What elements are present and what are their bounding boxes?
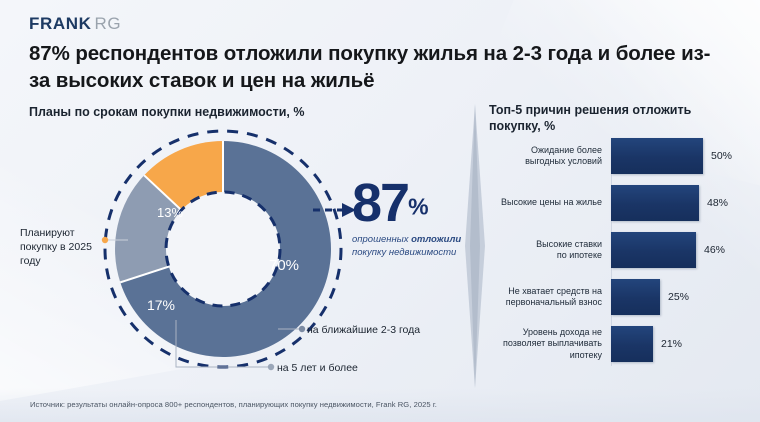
bar-label-4-line2: позволяет выплачивать <box>503 338 602 348</box>
annotation-2025: Планируют покупку в 2025 году <box>20 226 106 268</box>
bar-value-3: 25% <box>668 291 689 303</box>
bar-label-3-line1: Не хватает средств на <box>508 286 602 296</box>
bar-row: Не хватает средств на первоначальный взн… <box>489 279 745 315</box>
bar-track-0: 50% <box>611 138 745 174</box>
donut-chart: 70% 17% 13% <box>98 124 348 374</box>
bar-label-0-line1: Ожидание более <box>531 145 602 155</box>
bar-label-1: Высокие цены на жилье <box>489 197 611 209</box>
callout-text-line2: покупку недвижимости <box>352 247 456 258</box>
page-title: 87% респондентов отложили покупку жилья … <box>29 40 729 94</box>
bar-track-2: 46% <box>611 232 745 268</box>
brand-logo: FRANKRG <box>29 14 121 34</box>
bar-label-2-line2: по ипотеке <box>557 250 602 260</box>
callout-text-prefix: опрошенных <box>352 234 411 245</box>
infographic-root: FRANKRG 87% респондентов отложили покупк… <box>0 0 760 422</box>
bar-value-1: 48% <box>707 197 728 209</box>
bar-row: Высокие цены на жилье 48% <box>489 185 745 221</box>
source-note: Источник: результаты онлайн-опроса 800+ … <box>30 400 437 409</box>
bar-fill-4 <box>611 326 653 362</box>
callout-number: 87 <box>352 178 408 228</box>
bar-fill-1 <box>611 185 699 221</box>
bar-value-4: 21% <box>661 338 682 350</box>
donut-value-13: 13% <box>157 205 183 220</box>
bar-fill-2 <box>611 232 696 268</box>
bar-label-4-line3: ипотеку <box>570 350 602 360</box>
bar-label-4-line1: Уровень дохода не <box>523 327 602 337</box>
callout-text-emphasis: отложили <box>411 234 461 245</box>
bar-track-1: 48% <box>611 185 745 221</box>
bar-track-3: 25% <box>611 279 745 315</box>
callout-description: опрошенных отложили покупку недвижимости <box>352 234 472 259</box>
bar-fill-3 <box>611 279 660 315</box>
bar-label-1-line1: Высокие цены на жилье <box>501 197 602 207</box>
bar-row: Высокие ставки по ипотеке 46% <box>489 232 745 268</box>
bar-track-4: 21% <box>611 326 745 362</box>
left-chart-title: Планы по срокам покупки недвижимости, % <box>29 105 304 119</box>
bar-row: Уровень дохода не позволяет выплачивать … <box>489 326 745 362</box>
bar-label-3-line2: первоначальный взнос <box>506 297 602 307</box>
logo-rg-text: RG <box>95 14 122 33</box>
legend-label-5-years-plus: на 5 лет и более <box>277 362 358 374</box>
bar-label-4: Уровень дохода не позволяет выплачивать … <box>489 327 611 362</box>
bar-value-2: 46% <box>704 244 725 256</box>
bar-label-2-line1: Высокие ставки <box>536 239 602 249</box>
bar-row: Ожидание более выгодных условий 50% <box>489 138 745 174</box>
bar-label-3: Не хватает средств на первоначальный взн… <box>489 286 611 309</box>
right-chart-title: Топ-5 причин решения отложить покупку, % <box>489 102 739 134</box>
legend-label-2-3-years: на ближайшие 2-3 года <box>307 324 420 336</box>
bar-label-2: Высокие ставки по ипотеке <box>489 239 611 262</box>
donut-value-70: 70% <box>269 257 299 274</box>
highlight-callout: 87% опрошенных отложили покупку недвижим… <box>352 178 487 259</box>
donut-value-17: 17% <box>147 297 175 313</box>
bar-fill-0 <box>611 138 703 174</box>
bar-label-0-line2: выгодных условий <box>525 156 602 166</box>
logo-frank-text: FRANK <box>29 14 92 33</box>
callout-percent-sign: % <box>408 194 428 220</box>
bar-label-0: Ожидание более выгодных условий <box>489 145 611 168</box>
reasons-bar-chart: Ожидание более выгодных условий 50% Высо… <box>489 138 745 368</box>
bar-value-0: 50% <box>711 150 732 162</box>
